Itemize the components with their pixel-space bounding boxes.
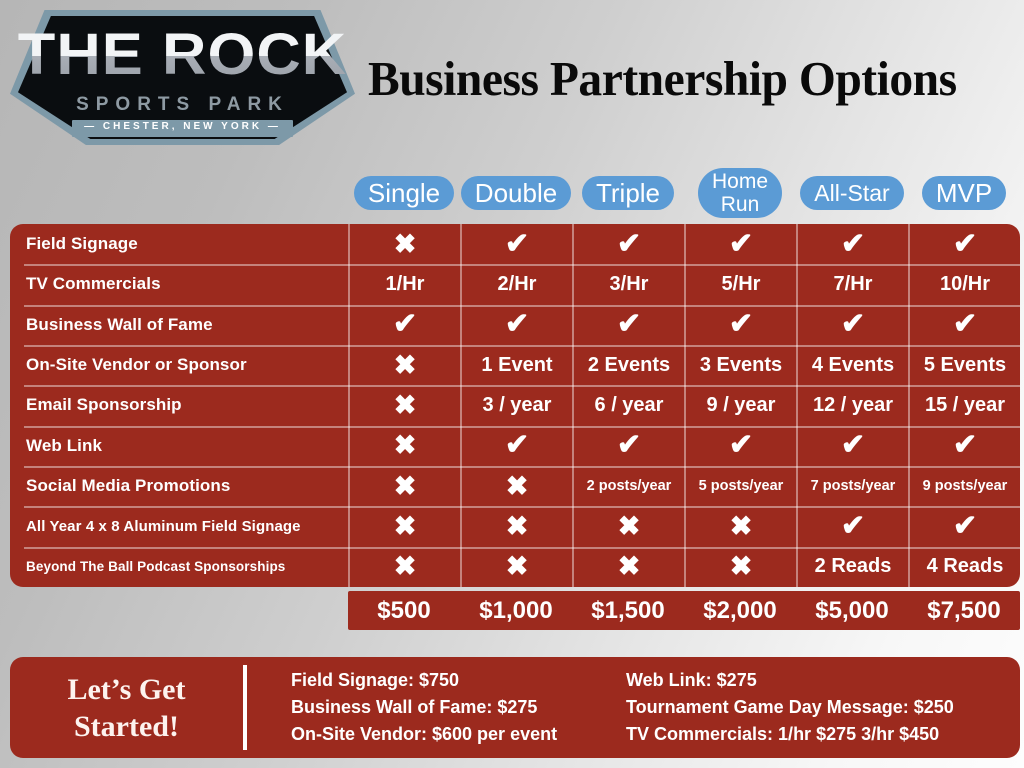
table-cell-home-run: 3 Events [684, 345, 796, 385]
check-icon-glyph: ✔ [841, 431, 865, 460]
cross-icon-glyph: ✖ [394, 352, 417, 379]
cross-icon-glyph: ✖ [394, 231, 417, 258]
logo-city-text: — CHESTER, NEW YORK — [10, 121, 355, 132]
row-label-email-sponsorship: Email Sponsorship [10, 385, 348, 425]
check-icon-glyph: ✔ [841, 310, 865, 339]
check-icon: ✔ [684, 305, 796, 345]
check-icon-glyph: ✔ [953, 512, 977, 541]
footer-line: Tournament Game Day Message: $250 [626, 695, 954, 720]
row-label-on-site-vendor-or-sponsor: On-Site Vendor or Sponsor [10, 345, 348, 385]
page-title: Business Partnership Options [368, 52, 999, 106]
pill-single: Single [354, 176, 454, 210]
table-cell-all-star: 7/Hr [796, 264, 908, 304]
table-cell-mvp: 9 posts/year [908, 466, 1020, 506]
footer-line: Business Wall of Fame: $275 [291, 695, 626, 720]
check-icon-glyph: ✔ [505, 230, 529, 259]
check-icon: ✔ [796, 426, 908, 466]
price-triple: $1,500 [572, 591, 684, 630]
cross-icon-glyph: ✖ [394, 553, 417, 580]
logo-sub-text: SPORTS PARK [10, 94, 355, 116]
check-icon: ✔ [572, 426, 684, 466]
check-icon-glyph: ✔ [393, 310, 417, 339]
column-header-all-star: All-Star [796, 168, 908, 218]
footer-line: TV Commercials: 1/hr $275 3/hr $450 [626, 722, 954, 747]
cta-lets-get-started[interactable]: Let’s Get Started! [10, 657, 243, 758]
check-icon-glyph: ✔ [729, 230, 753, 259]
table-row: All Year 4 x 8 Aluminum Field Signage✖✖✖… [10, 506, 1020, 546]
table-cell-single: 1/Hr [348, 264, 460, 304]
table-cell-triple: 3/Hr [572, 264, 684, 304]
cross-icon: ✖ [348, 426, 460, 466]
row-label-social-media-promotions: Social Media Promotions [10, 466, 348, 506]
row-label-all-year-4-x-8-aluminum-field-signage: All Year 4 x 8 Aluminum Field Signage [10, 506, 348, 546]
check-icon: ✔ [908, 224, 1020, 264]
logo: THE ROCK SPORTS PARK — CHESTER, NEW YORK… [10, 10, 355, 145]
check-icon-glyph: ✔ [617, 431, 641, 460]
check-icon-glyph: ✔ [841, 512, 865, 541]
cross-icon-glyph: ✖ [506, 513, 529, 540]
cross-icon-glyph: ✖ [506, 553, 529, 580]
check-icon: ✔ [572, 224, 684, 264]
cta-line-1: Let’s Get [67, 671, 185, 708]
check-icon-glyph: ✔ [617, 310, 641, 339]
price-home-run: $2,000 [684, 591, 796, 630]
column-header-mvp: MVP [908, 168, 1020, 218]
cross-icon: ✖ [348, 506, 460, 546]
price-single: $500 [348, 591, 460, 630]
footer-column-right: Web Link: $275 Tournament Game Day Messa… [626, 667, 954, 748]
check-icon-glyph: ✔ [505, 310, 529, 339]
check-icon-glyph: ✔ [841, 230, 865, 259]
row-label-business-wall-of-fame: Business Wall of Fame [10, 305, 348, 345]
logo-main-text: THE ROCK [0, 26, 365, 84]
footer-line: Web Link: $275 [626, 668, 954, 693]
cross-icon-glyph: ✖ [730, 513, 753, 540]
check-icon: ✔ [908, 426, 1020, 466]
cross-icon-glyph: ✖ [394, 473, 417, 500]
table-cell-all-star: 2 Reads [796, 547, 908, 587]
pill-mvp: MVP [922, 176, 1006, 210]
check-icon: ✔ [796, 506, 908, 546]
row-label-field-signage: Field Signage [10, 224, 348, 264]
table-row: TV Commercials1/Hr2/Hr3/Hr5/Hr7/Hr10/Hr [10, 264, 1020, 304]
table-row: Email Sponsorship✖3 / year6 / year9 / ye… [10, 385, 1020, 425]
check-icon: ✔ [684, 224, 796, 264]
check-icon: ✔ [460, 305, 572, 345]
check-icon: ✔ [684, 426, 796, 466]
table-row: On-Site Vendor or Sponsor✖1 Event2 Event… [10, 345, 1020, 385]
benefits-table: Field Signage✖✔✔✔✔✔TV Commercials1/Hr2/H… [10, 224, 1020, 587]
footer-line: On-Site Vendor: $600 per event [291, 722, 626, 747]
price-double: $1,000 [460, 591, 572, 630]
row-label-beyond-the-ball-podcast-sponsorships: Beyond The Ball Podcast Sponsorships [10, 547, 348, 587]
check-icon: ✔ [348, 305, 460, 345]
column-header-triple: Triple [572, 168, 684, 218]
cross-icon: ✖ [460, 466, 572, 506]
cross-icon: ✖ [348, 345, 460, 385]
pill-all-star: All-Star [800, 176, 903, 210]
cross-icon: ✖ [572, 506, 684, 546]
table-cell-home-run: 5/Hr [684, 264, 796, 304]
cross-icon-glyph: ✖ [618, 513, 641, 540]
table-cell-mvp: 10/Hr [908, 264, 1020, 304]
table-cell-double: 1 Event [460, 345, 572, 385]
column-header-home-run: Home Run [684, 168, 796, 218]
table-cell-triple: 2 Events [572, 345, 684, 385]
check-icon: ✔ [572, 305, 684, 345]
check-icon-glyph: ✔ [505, 431, 529, 460]
table-row: Field Signage✖✔✔✔✔✔ [10, 224, 1020, 264]
cross-icon: ✖ [348, 224, 460, 264]
check-icon-glyph: ✔ [953, 230, 977, 259]
table-cell-home-run: 9 / year [684, 385, 796, 425]
cross-icon: ✖ [348, 385, 460, 425]
check-icon: ✔ [460, 426, 572, 466]
row-label-tv-commercials: TV Commercials [10, 264, 348, 304]
row-label-web-link: Web Link [10, 426, 348, 466]
cross-icon: ✖ [348, 547, 460, 587]
check-icon: ✔ [796, 305, 908, 345]
cross-icon: ✖ [684, 547, 796, 587]
check-icon: ✔ [908, 305, 1020, 345]
price-mvp: $7,500 [908, 591, 1020, 630]
table-row: Business Wall of Fame✔✔✔✔✔✔ [10, 305, 1020, 345]
column-headers: Single Double Triple Home Run All-Star M… [348, 168, 1020, 218]
price-all-star: $5,000 [796, 591, 908, 630]
cross-icon: ✖ [572, 547, 684, 587]
cross-icon-glyph: ✖ [618, 553, 641, 580]
table-row: Web Link✖✔✔✔✔✔ [10, 426, 1020, 466]
footer-pricing-list: Field Signage: $750 Business Wall of Fam… [247, 657, 1020, 758]
check-icon-glyph: ✔ [729, 431, 753, 460]
table-cell-all-star: 7 posts/year [796, 466, 908, 506]
check-icon-glyph: ✔ [953, 431, 977, 460]
footer-panel: Let’s Get Started! Field Signage: $750 B… [10, 657, 1020, 758]
pill-home-run: Home Run [698, 168, 782, 218]
cross-icon: ✖ [460, 547, 572, 587]
pill-double: Double [461, 176, 571, 210]
check-icon: ✔ [908, 506, 1020, 546]
table-cell-double: 3 / year [460, 385, 572, 425]
table-cell-all-star: 4 Events [796, 345, 908, 385]
cross-icon-glyph: ✖ [394, 513, 417, 540]
check-icon: ✔ [796, 224, 908, 264]
footer-line: Field Signage: $750 [291, 668, 626, 693]
table-row: Beyond The Ball Podcast Sponsorships✖✖✖✖… [10, 547, 1020, 587]
check-icon-glyph: ✔ [617, 230, 641, 259]
table-row: Social Media Promotions✖✖2 posts/year5 p… [10, 466, 1020, 506]
table-cell-double: 2/Hr [460, 264, 572, 304]
cross-icon-glyph: ✖ [506, 473, 529, 500]
cross-icon-glyph: ✖ [394, 432, 417, 459]
table-cell-triple: 6 / year [572, 385, 684, 425]
cross-icon-glyph: ✖ [730, 553, 753, 580]
table-cell-mvp: 4 Reads [908, 547, 1020, 587]
table-cell-mvp: 15 / year [908, 385, 1020, 425]
table-cell-triple: 2 posts/year [572, 466, 684, 506]
pill-triple: Triple [582, 176, 674, 210]
table-cell-mvp: 5 Events [908, 345, 1020, 385]
footer-column-left: Field Signage: $750 Business Wall of Fam… [291, 667, 626, 748]
cross-icon-glyph: ✖ [394, 392, 417, 419]
cross-icon: ✖ [684, 506, 796, 546]
cross-icon: ✖ [460, 506, 572, 546]
price-row: $500$1,000$1,500$2,000$5,000$7,500 [348, 591, 1020, 630]
column-header-double: Double [460, 168, 572, 218]
page-header: THE ROCK SPORTS PARK — CHESTER, NEW YORK… [0, 0, 1024, 160]
check-icon-glyph: ✔ [953, 310, 977, 339]
check-icon-glyph: ✔ [729, 310, 753, 339]
table-cell-home-run: 5 posts/year [684, 466, 796, 506]
table-cell-all-star: 12 / year [796, 385, 908, 425]
check-icon: ✔ [460, 224, 572, 264]
column-header-single: Single [348, 168, 460, 218]
cross-icon: ✖ [348, 466, 460, 506]
cta-line-2: Started! [74, 708, 179, 745]
